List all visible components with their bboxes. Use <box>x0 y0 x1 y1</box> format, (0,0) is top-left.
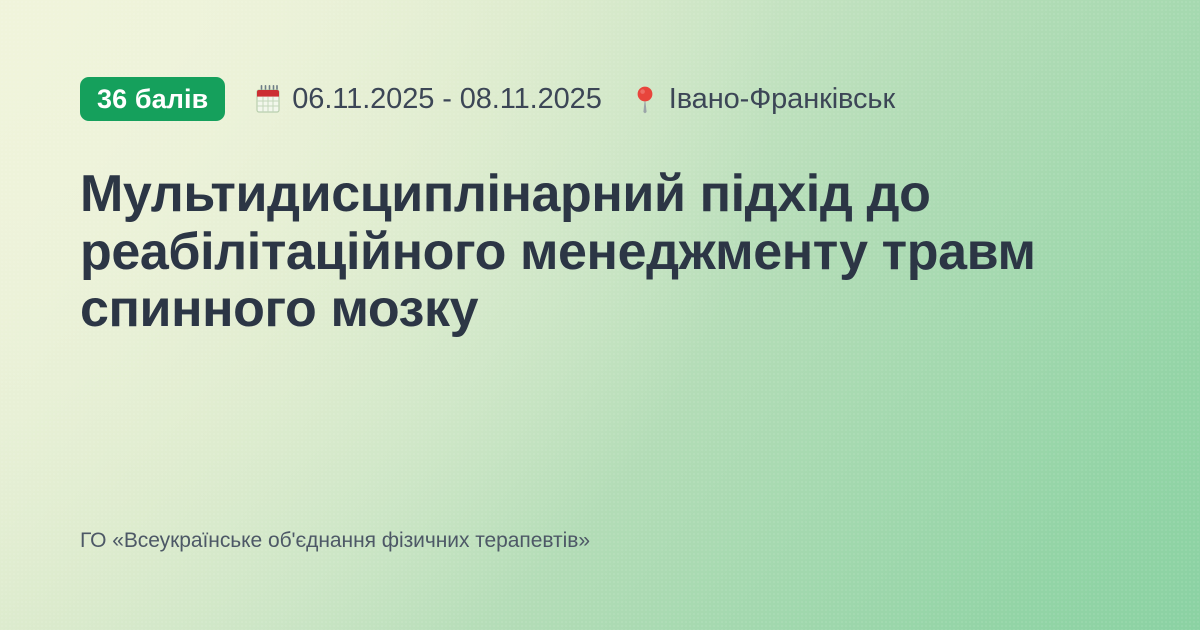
title-line-1: Мультидисциплінарний підхід до <box>80 166 1120 224</box>
date-range-text: 06.11.2025 - 08.11.2025 <box>292 83 601 116</box>
event-title: Мультидисциплінарний підхід до реабіліта… <box>80 166 1120 339</box>
card-content: 36 балів <box>0 0 1200 630</box>
event-card: 36 балів <box>0 0 1200 630</box>
date-meta: 06.11.2025 - 08.11.2025 <box>255 83 601 116</box>
location-pin-icon <box>632 83 658 115</box>
title-line-2: реабілітаційного менеджменту травм <box>80 224 1120 282</box>
title-line-3: спинного мозку <box>80 281 1120 339</box>
points-badge: 36 балів <box>80 77 225 121</box>
meta-row: 36 балів <box>80 74 1120 124</box>
location-text: Івано-Франківськ <box>669 83 895 116</box>
calendar-icon <box>255 83 281 115</box>
location-meta: Івано-Франківськ <box>632 83 895 116</box>
organizer-text: ГО «Всеукраїнське об'єднання фізичних те… <box>80 529 1120 553</box>
